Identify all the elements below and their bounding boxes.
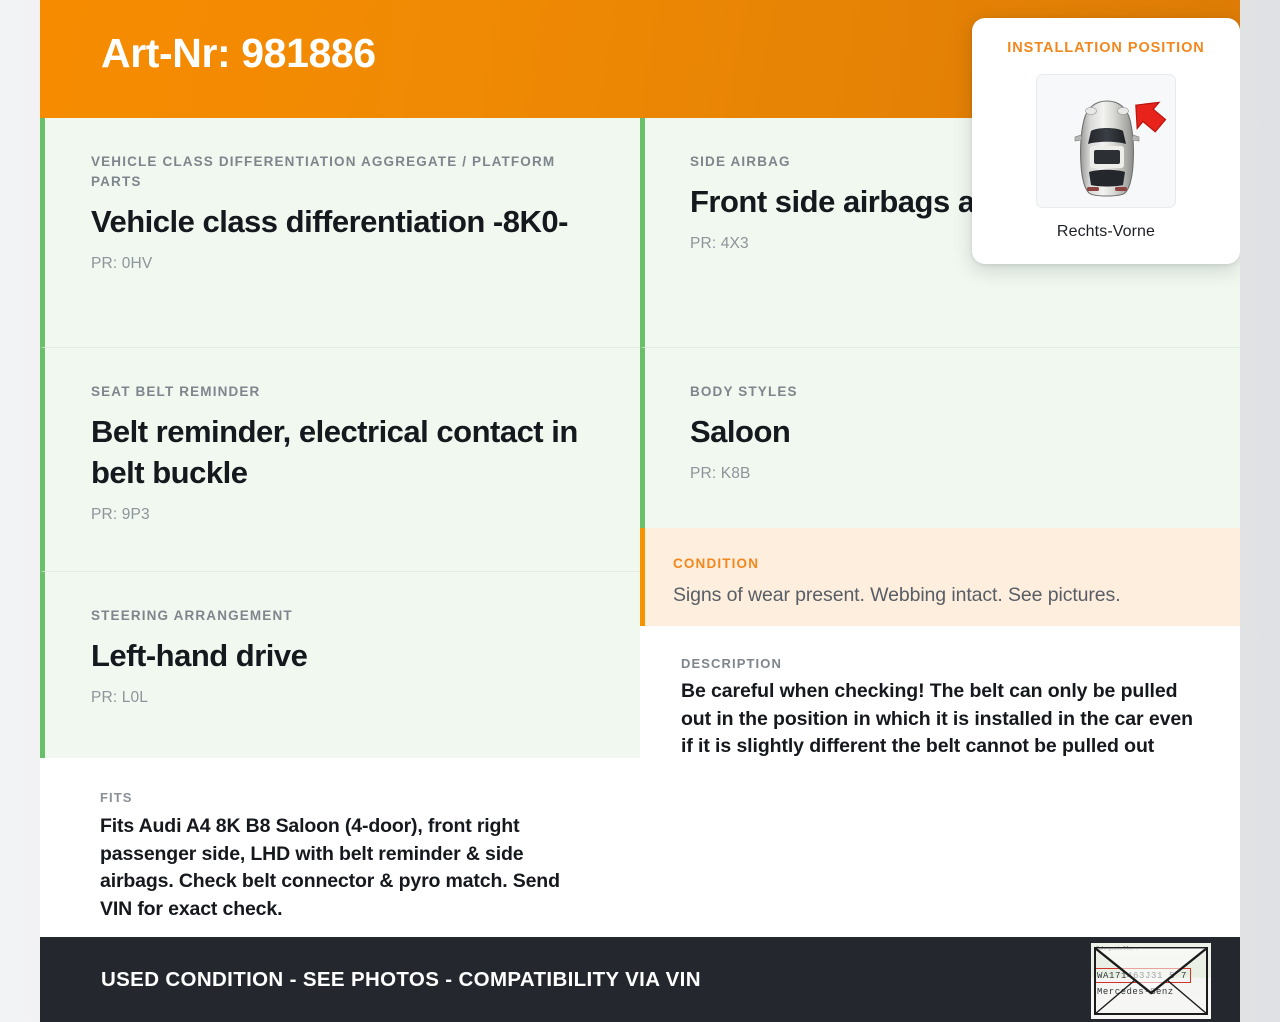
condition-text: Signs of wear present. Webbing intact. S…: [673, 581, 1194, 610]
fits-label: FITS: [100, 790, 594, 805]
installation-position-card: INSTALLATION POSITION: [972, 18, 1240, 264]
condition-label: CONDITION: [673, 554, 1194, 574]
spec-value: Vehicle class differentiation -8K0-: [91, 201, 594, 242]
spec-label: VEHICLE CLASS DIFFERENTIATION AGGREGATE …: [91, 152, 594, 192]
spec-label: BODY STYLES: [690, 382, 1194, 402]
fits-text: Fits Audi A4 8K B8 Saloon (4-door), fron…: [100, 813, 594, 924]
spec-pr-code: PR: K8B: [690, 465, 1194, 483]
car-top-view-icon: [1036, 74, 1176, 208]
spec-pr-code: PR: L0L: [91, 689, 594, 707]
fits-card: FITS Fits Audi A4 8K B8 Saloon (4-door),…: [40, 758, 640, 950]
spec-card-vehicle-class: VEHICLE CLASS DIFFERENTIATION AGGREGATE …: [40, 118, 640, 348]
spec-card-body-styles: BODY STYLES Saloon PR: K8B: [640, 348, 1240, 528]
spec-label: SEAT BELT REMINDER: [91, 382, 594, 402]
description-label: DESCRIPTION: [681, 656, 1194, 671]
spec-value: Belt reminder, electrical contact in bel…: [91, 411, 594, 493]
footer-bar: USED CONDITION - SEE PHOTOS - COMPATIBIL…: [40, 937, 1240, 1022]
spec-value: Saloon: [690, 411, 1194, 452]
spec-label: STEERING ARRANGEMENT: [91, 606, 594, 626]
spec-card-steering-arrangement: STEERING ARRANGEMENT Left-hand drive PR:…: [40, 572, 640, 758]
installation-position-title: INSTALLATION POSITION: [972, 40, 1240, 56]
spec-card-seat-belt-reminder: SEAT BELT REMINDER Belt reminder, electr…: [40, 348, 640, 572]
spec-value: Left-hand drive: [91, 635, 594, 676]
description-card: DESCRIPTION Be careful when checking! Th…: [640, 626, 1240, 785]
page-title: Art-Nr: 981886: [101, 30, 376, 77]
envelope-vin-document-icon: Fahrgestellnr. WA171463J31 5 7 Mercedes-…: [1091, 943, 1211, 1019]
condition-card: CONDITION Signs of wear present. Webbing…: [640, 528, 1240, 626]
description-text: Be careful when checking! The belt can o…: [681, 678, 1194, 761]
spec-pr-code: PR: 0HV: [91, 255, 594, 273]
spec-pr-code: PR: 9P3: [91, 506, 594, 524]
installation-position-caption: Rechts-Vorne: [972, 223, 1240, 241]
footer-text: USED CONDITION - SEE PHOTOS - COMPATIBIL…: [101, 968, 701, 992]
left-column: VEHICLE CLASS DIFFERENTIATION AGGREGATE …: [40, 118, 640, 937]
product-sheet: Art-Nr: 981886 VEHICLE CLASS DIFFERENTIA…: [40, 0, 1240, 1022]
